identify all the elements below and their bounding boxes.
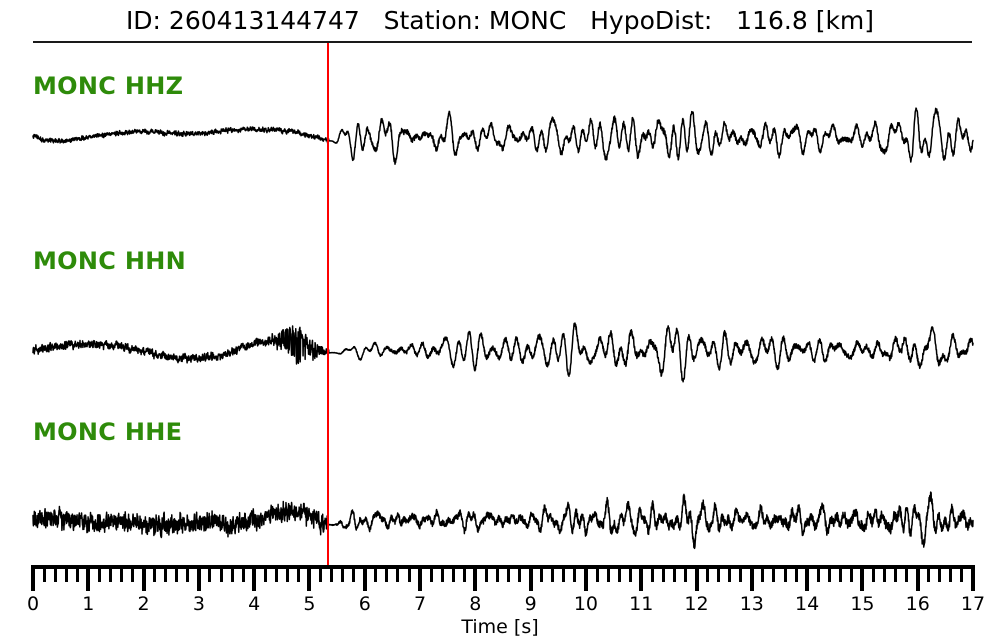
axis-tick-minor — [374, 565, 377, 582]
axis-tick-major — [860, 565, 864, 591]
axis-tick-minor — [607, 565, 610, 582]
axis-tick-minor — [927, 565, 930, 582]
axis-tick-label: 6 — [359, 593, 371, 615]
axis-tick-minor — [186, 565, 189, 582]
axis-tick-major — [695, 565, 699, 591]
page-title: ID: 260413144747 Station: MONC HypoDist:… — [126, 6, 874, 35]
axis-tick-minor — [396, 565, 399, 582]
axis-tick-minor — [651, 565, 654, 582]
axis-tick-minor — [385, 565, 388, 582]
axis-tick-label: 2 — [138, 593, 150, 615]
axis-tick-minor — [463, 565, 466, 582]
axis-tick-minor — [264, 565, 267, 582]
axis-tick-label: 10 — [574, 593, 598, 615]
axis-tick-minor — [949, 565, 952, 582]
axis-tick-minor — [352, 565, 355, 582]
axis-tick-label: 4 — [248, 593, 260, 615]
axis-tick-minor — [330, 565, 333, 582]
axis-tick-minor — [728, 565, 731, 582]
axis-tick-major — [971, 565, 975, 591]
axis-tick-minor — [795, 565, 798, 582]
axis-tick-minor — [153, 565, 156, 582]
axis-tick-label: 15 — [850, 593, 874, 615]
axis-tick-minor — [828, 565, 831, 582]
trace-label-hhn: MONC HHN — [33, 247, 186, 275]
axis-tick-minor — [772, 565, 775, 582]
axis-tick-label: 11 — [629, 593, 653, 615]
axis-tick-major — [529, 565, 533, 591]
axis-tick-major — [750, 565, 754, 591]
axis-tick-minor — [739, 565, 742, 582]
axis-tick-minor — [43, 565, 46, 582]
axis-tick-minor — [573, 565, 576, 582]
axis-tick-major — [31, 565, 35, 591]
axis-tick-minor — [960, 565, 963, 582]
waveform-path — [33, 492, 973, 548]
axis-tick-minor — [662, 565, 665, 582]
axis-tick-minor — [507, 565, 510, 582]
axis-tick-label: 13 — [740, 593, 764, 615]
axis-tick-minor — [706, 565, 709, 582]
axis-tick-minor — [784, 565, 787, 582]
axis-tick-minor — [817, 565, 820, 582]
axis-tick-minor — [297, 565, 300, 582]
axis-tick-minor — [717, 565, 720, 582]
axis-tick-label: 3 — [193, 593, 205, 615]
axis-tick-minor — [850, 565, 853, 582]
axis-tick-minor — [540, 565, 543, 582]
axis-tick-minor — [242, 565, 245, 582]
axis-tick-minor — [839, 565, 842, 582]
axis-tick-major — [363, 565, 367, 591]
axis-tick-minor — [164, 565, 167, 582]
axis-tick-minor — [551, 565, 554, 582]
seismogram-figure: ID: 260413144747 Station: MONC HypoDist:… — [0, 0, 1000, 640]
axis-tick-minor — [131, 565, 134, 582]
axis-tick-minor — [98, 565, 101, 582]
axis-tick-minor — [286, 565, 289, 582]
axis-tick-major — [916, 565, 920, 591]
axis-tick-minor — [76, 565, 79, 582]
axis-tick-minor — [629, 565, 632, 582]
axis-tick-minor — [441, 565, 444, 582]
axis-spine — [33, 565, 973, 569]
axis-tick-minor — [496, 565, 499, 582]
axis-tick-major — [197, 565, 201, 591]
axis-tick-minor — [275, 565, 278, 582]
trace-panel-hhn[interactable]: MONC HHN — [0, 225, 1000, 400]
trace-panel-hhz[interactable]: MONC HHZ — [0, 45, 1000, 225]
axis-tick-minor — [938, 565, 941, 582]
axis-tick-label: 17 — [961, 593, 985, 615]
axis-tick-label: 5 — [303, 593, 315, 615]
axis-tick-minor — [894, 565, 897, 582]
axis-tick-major — [86, 565, 90, 591]
trace-panel-hhe[interactable]: MONC HHE — [0, 400, 1000, 555]
axis-tick-minor — [65, 565, 68, 582]
trace-label-hhe: MONC HHE — [33, 418, 182, 446]
axis-tick-major — [307, 565, 311, 591]
axis-tick-major — [639, 565, 643, 591]
axis-tick-label: 1 — [82, 593, 94, 615]
axis-tick-minor — [872, 565, 875, 582]
axis-tick-major — [418, 565, 422, 591]
axis-tick-major — [584, 565, 588, 591]
axis-tick-label: 9 — [525, 593, 537, 615]
axis-tick-minor — [905, 565, 908, 582]
axis-tick-major — [142, 565, 146, 591]
axis-tick-minor — [596, 565, 599, 582]
axis-tick-minor — [54, 565, 57, 582]
axis-tick-label: 0 — [27, 593, 39, 615]
axis-tick-minor — [562, 565, 565, 582]
axis-tick-minor — [109, 565, 112, 582]
axis-tick-label: 8 — [469, 593, 481, 615]
axis-tick-minor — [231, 565, 234, 582]
trace-label-hhz: MONC HHZ — [33, 72, 183, 100]
axis-tick-major — [473, 565, 477, 591]
axis-tick-label: 16 — [906, 593, 930, 615]
axis-title: Time [s] — [461, 616, 538, 638]
axis-tick-minor — [883, 565, 886, 582]
axis-tick-minor — [408, 565, 411, 582]
axis-tick-minor — [452, 565, 455, 582]
waveform-path — [33, 323, 973, 382]
axis-tick-major — [252, 565, 256, 591]
axis-tick-label: 14 — [795, 593, 819, 615]
waveform-stack: MONC HHZ MONC HHN MONC HHE — [0, 45, 1000, 555]
axis-tick-label: 12 — [684, 593, 708, 615]
axis-tick-label: 7 — [414, 593, 426, 615]
axis-tick-minor — [485, 565, 488, 582]
axis-tick-minor — [761, 565, 764, 582]
time-axis: 01234567891011121314151617 Time [s] — [0, 560, 1000, 640]
axis-tick-minor — [430, 565, 433, 582]
title-divider — [33, 41, 972, 43]
axis-tick-minor — [208, 565, 211, 582]
axis-tick-minor — [120, 565, 123, 582]
axis-tick-minor — [341, 565, 344, 582]
axis-tick-minor — [518, 565, 521, 582]
axis-tick-minor — [673, 565, 676, 582]
figure-title-bar: ID: 260413144747 Station: MONC HypoDist:… — [0, 2, 1000, 38]
axis-tick-major — [805, 565, 809, 591]
waveform-path — [33, 108, 973, 164]
axis-tick-minor — [684, 565, 687, 582]
axis-tick-minor — [319, 565, 322, 582]
axis-tick-minor — [618, 565, 621, 582]
axis-tick-minor — [175, 565, 178, 582]
axis-tick-minor — [220, 565, 223, 582]
p-arrival-marker[interactable] — [327, 43, 329, 565]
